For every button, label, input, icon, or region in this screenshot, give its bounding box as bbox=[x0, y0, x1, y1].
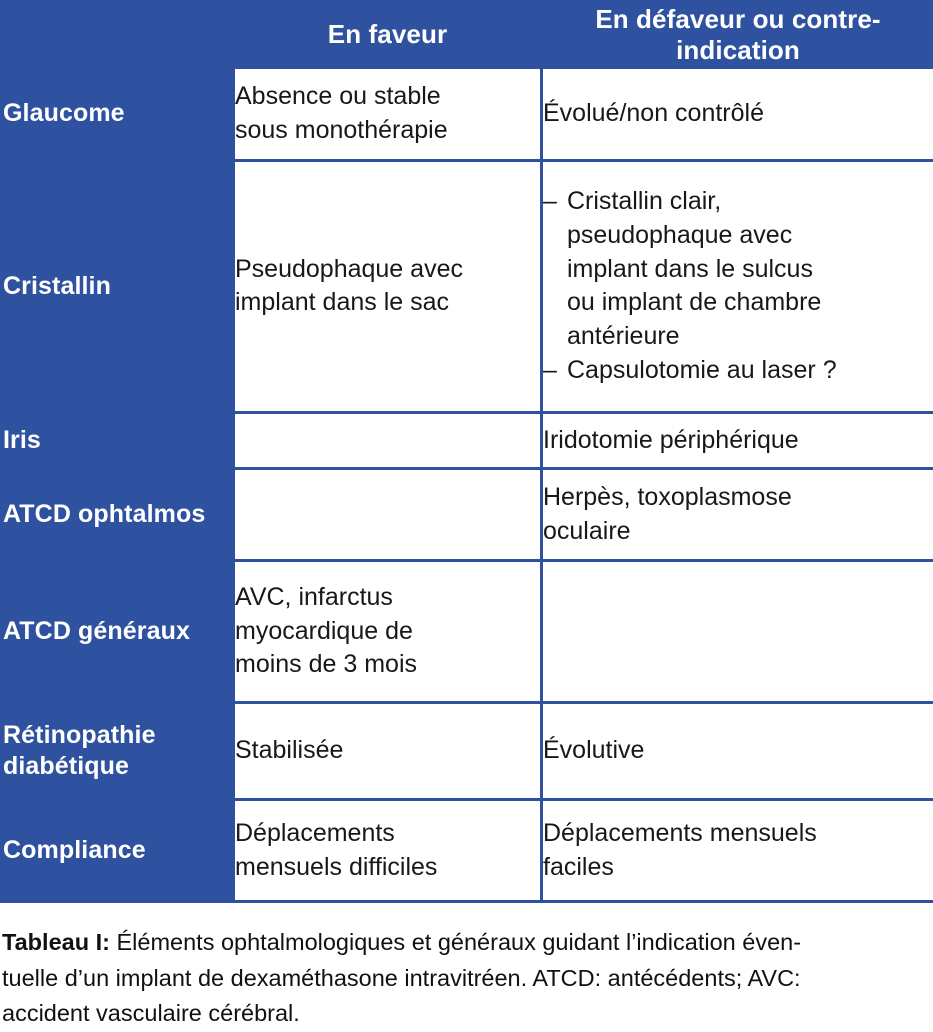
table-header: En faveur En défaveur ou contre-indicati… bbox=[3, 3, 933, 66]
cell-atcd-generaux-against bbox=[543, 562, 933, 700]
header-col-en-defaveur-line1: En défaveur bbox=[595, 4, 745, 34]
row-label-atcd-generaux: ATCD généraux bbox=[3, 562, 232, 700]
cell-text-line: Cristallin clair, bbox=[567, 185, 933, 219]
indications-table: En faveur En défaveur ou contre-indicati… bbox=[0, 0, 933, 903]
dash-bullet-list: Cristallin clair, pseudophaque avec impl… bbox=[543, 185, 933, 388]
caption-line-2: tuelle d’un implant de dexaméthasone int… bbox=[2, 961, 931, 997]
row-label-cristallin: Cristallin bbox=[3, 162, 232, 411]
table-row-retinopathie-diabetique: Rétinopathie diabétique Stabilisée Évolu… bbox=[3, 704, 933, 799]
row-label-line1: ATCD bbox=[3, 617, 71, 645]
cell-text-line: Absence ou stable bbox=[235, 80, 540, 114]
header-row: En faveur En défaveur ou contre-indicati… bbox=[3, 3, 933, 66]
cell-iris-against: Iridotomie périphérique bbox=[543, 414, 933, 467]
row-label-retinopathie-diabetique: Rétinopathie diabétique bbox=[3, 704, 232, 799]
header-corner-blank bbox=[3, 3, 232, 66]
table-row-atcd-generaux: ATCD généraux AVC, infarctus myocardique… bbox=[3, 562, 933, 700]
cell-text-line: Herpès, toxoplasmose bbox=[543, 481, 933, 515]
table-row-glaucome: Glaucome Absence ou stable sous monothér… bbox=[3, 69, 933, 159]
caption-line-3: accident vasculaire cérébral. bbox=[2, 996, 931, 1032]
caption-line-1: Tableau I: Éléments ophtalmologiques et … bbox=[2, 925, 931, 961]
table-caption: Tableau I: Éléments ophtalmologiques et … bbox=[0, 925, 933, 1032]
table-container: En faveur En défaveur ou contre-indicati… bbox=[0, 0, 927, 903]
table-row-cristallin: Cristallin Pseudophaque avec implant dan… bbox=[3, 162, 933, 411]
cell-text-line: implant dans le sac bbox=[235, 286, 540, 320]
cell-retinopathie-against: Évolutive bbox=[543, 704, 933, 799]
cell-iris-favor bbox=[235, 414, 540, 467]
header-col-en-defaveur: En défaveur ou contre-indication bbox=[543, 3, 933, 66]
row-label-compliance: Compliance bbox=[3, 801, 232, 900]
table-row-iris: Iris Iridotomie périphérique bbox=[3, 414, 933, 467]
row-label-line1: Rétinopathie bbox=[3, 721, 156, 749]
cell-text-line: Évolué/non contrôlé bbox=[543, 97, 933, 131]
row-label-line2: généraux bbox=[78, 617, 190, 645]
cell-retinopathie-favor: Stabilisée bbox=[235, 704, 540, 799]
cell-atcd-generaux-favor: AVC, infarctus myocardique de moins de 3… bbox=[235, 562, 540, 700]
cell-text-line: antérieure bbox=[567, 320, 933, 354]
header-col-en-faveur: En faveur bbox=[235, 3, 540, 66]
row-label-iris: Iris bbox=[3, 414, 232, 467]
table-body: Glaucome Absence ou stable sous monothér… bbox=[3, 69, 933, 900]
table-row-compliance: Compliance Déplacements mensuels diffici… bbox=[3, 801, 933, 900]
caption-label: Tableau I: bbox=[2, 929, 110, 955]
cell-text-line: Stabilisée bbox=[235, 734, 540, 768]
cell-text-line: myocardique de bbox=[235, 615, 540, 649]
list-item: Capsulotomie au laser ? bbox=[543, 354, 933, 388]
cell-text-line: Iridotomie périphérique bbox=[543, 424, 933, 458]
cell-cristallin-against: Cristallin clair, pseudophaque avec impl… bbox=[543, 162, 933, 411]
table-row-atcd-ophtalmos: ATCD ophtalmos Herpès, toxoplasmose ocul… bbox=[3, 470, 933, 560]
cell-glaucome-against: Évolué/non contrôlé bbox=[543, 69, 933, 159]
cell-text-line: sous monothérapie bbox=[235, 114, 540, 148]
cell-compliance-favor: Déplacements mensuels difficiles bbox=[235, 801, 540, 900]
cell-atcd-ophtalmos-favor bbox=[235, 470, 540, 560]
cell-text-line: Capsulotomie au laser ? bbox=[567, 354, 933, 388]
cell-compliance-against: Déplacements mensuels faciles bbox=[543, 801, 933, 900]
cell-text-line: Évolutive bbox=[543, 734, 933, 768]
row-label-line2: diabétique bbox=[3, 752, 129, 780]
cell-glaucome-favor: Absence ou stable sous monothérapie bbox=[235, 69, 540, 159]
cell-atcd-ophtalmos-against: Herpès, toxoplasmose oculaire bbox=[543, 470, 933, 560]
cell-text-line: moins de 3 mois bbox=[235, 648, 540, 682]
cell-text-line: pseudophaque avec bbox=[567, 219, 933, 253]
row-label-atcd-ophtalmos: ATCD ophtalmos bbox=[3, 470, 232, 560]
cell-cristallin-favor: Pseudophaque avec implant dans le sac bbox=[235, 162, 540, 411]
caption-text-1: Éléments ophtalmologiques et généraux gu… bbox=[116, 929, 801, 955]
cell-text-line: AVC, infarctus bbox=[235, 581, 540, 615]
cell-text-line: faciles bbox=[543, 851, 933, 885]
cell-text-line: Déplacements mensuels bbox=[543, 817, 933, 851]
cell-text-line: Pseudophaque avec bbox=[235, 253, 540, 287]
caption-text-2: tuelle d’un implant de dexaméthasone int… bbox=[2, 965, 801, 991]
cell-text-line: ou implant de chambre bbox=[567, 286, 933, 320]
cell-text-line: mensuels difficiles bbox=[235, 851, 540, 885]
row-label-line1: ATCD bbox=[3, 500, 71, 528]
cell-text-line: implant dans le sulcus bbox=[567, 253, 933, 287]
caption-text-3: accident vasculaire cérébral. bbox=[2, 1000, 300, 1026]
cell-text-line: oculaire bbox=[543, 515, 933, 549]
row-label-glaucome: Glaucome bbox=[3, 69, 232, 159]
cell-text-line: Déplacements bbox=[235, 817, 540, 851]
figure-page: En faveur En défaveur ou contre-indicati… bbox=[0, 0, 933, 1024]
list-item: Cristallin clair, pseudophaque avec impl… bbox=[543, 185, 933, 354]
row-label-line2: ophtalmos bbox=[78, 500, 205, 528]
